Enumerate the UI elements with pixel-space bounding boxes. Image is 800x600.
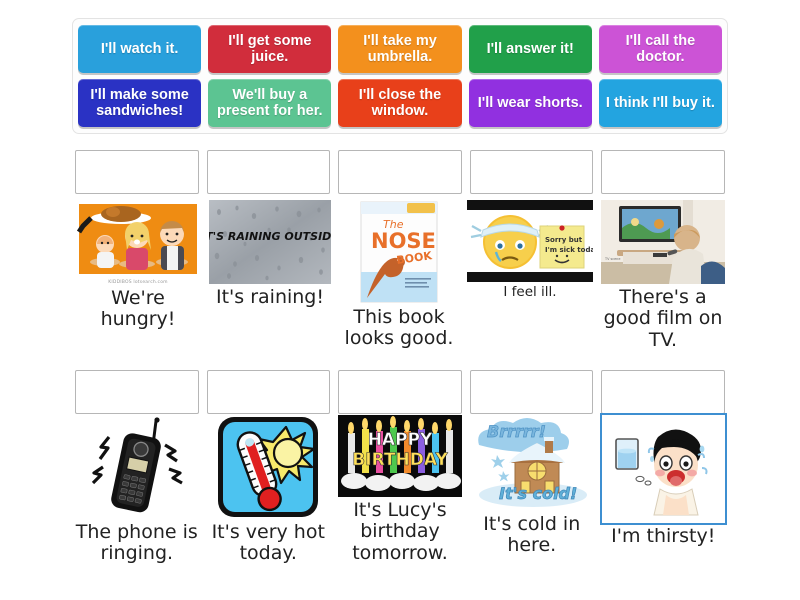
item-caption: The phone is ringing.	[75, 522, 199, 565]
item-raining[interactable]: IT'S RAINING OUTSIDE It's raining!	[209, 200, 331, 360]
svg-text:TV scene: TV scene	[604, 257, 620, 261]
matching-game-board: I'll watch it. I'll get some juice. I'll…	[0, 0, 800, 600]
drop-zone-row-2	[75, 370, 725, 414]
drop-zone-2[interactable]	[207, 150, 331, 194]
cold-overlay-line1: Brrrrr!	[487, 422, 546, 441]
tile-get-juice[interactable]: I'll get some juice.	[208, 25, 331, 73]
drop-zone-9[interactable]	[470, 370, 594, 414]
tile-close-window[interactable]: I'll close the window.	[338, 79, 461, 127]
drop-zone-7[interactable]	[207, 370, 331, 414]
sticky-note-line1: Sorry but	[545, 236, 583, 244]
item-good-film-tv[interactable]: TV scene There's a good film on TV.	[601, 200, 725, 360]
item-phone-ringing[interactable]: The phone is ringing.	[75, 415, 199, 580]
tile-think-buy-it[interactable]: I think I'll buy it.	[599, 79, 722, 127]
item-cold-in-here[interactable]: Brrrrr! It's cold! It's cold in here.	[470, 415, 594, 580]
item-birthday[interactable]: HAPPY BIRTHDAY It's Lucy's birthday tomo…	[338, 415, 462, 580]
child-watching-tv-image: TV scene	[601, 200, 725, 284]
item-feel-ill[interactable]: Sorry but I'm sick today I feel ill.	[467, 200, 593, 360]
thermometer-sun-image	[207, 415, 331, 519]
image-watermark: KIDDIBOS lotsearch.com	[108, 280, 168, 285]
tile-bank: I'll watch it. I'll get some juice. I'll…	[72, 18, 728, 134]
tile-watch-it[interactable]: I'll watch it.	[78, 25, 201, 73]
tile-row-2: I'll make some sandwiches! We'll buy a p…	[78, 79, 722, 127]
tile-buy-present[interactable]: We'll buy a present for her.	[208, 79, 331, 127]
tile-wear-shorts[interactable]: I'll wear shorts.	[469, 79, 592, 127]
drop-zone-5[interactable]	[601, 150, 725, 194]
drop-zone-8[interactable]	[338, 370, 462, 414]
item-thirsty[interactable]: I'm thirsty!	[602, 415, 726, 580]
sticky-note-line2: I'm sick today	[545, 246, 593, 254]
drop-zone-row-1	[75, 150, 725, 194]
item-caption: It's Lucy's birthday tomorrow.	[338, 500, 462, 564]
drop-zone-6[interactable]	[75, 370, 199, 414]
drop-zone-10[interactable]	[601, 370, 725, 414]
drop-zone-4[interactable]	[470, 150, 594, 194]
tile-call-doctor[interactable]: I'll call the doctor.	[599, 25, 722, 73]
item-hungry[interactable]: KIDDIBOS lotsearch.com We're hungry!	[75, 200, 201, 360]
item-nose-book[interactable]: The NOSE BOOK This book looks good.	[339, 200, 459, 360]
tile-answer-it[interactable]: I'll answer it!	[469, 25, 592, 73]
item-caption: We're hungry!	[75, 288, 201, 331]
drop-zone-3[interactable]	[338, 150, 462, 194]
tile-row-1: I'll watch it. I'll get some juice. I'll…	[78, 25, 722, 73]
hungry-family-turkey-image	[75, 200, 201, 278]
nose-book-cover-image: The NOSE BOOK	[339, 200, 459, 304]
item-caption: It's very hot today.	[207, 522, 331, 565]
item-caption: It's cold in here.	[470, 514, 594, 557]
item-row-1: KIDDIBOS lotsearch.com We're hungry!	[75, 200, 725, 360]
snowy-house-cold-image: Brrrrr! It's cold!	[470, 415, 594, 511]
item-caption: I feel ill.	[503, 285, 556, 300]
cold-overlay-line2: It's cold!	[499, 484, 577, 503]
tile-take-umbrella[interactable]: I'll take my umbrella.	[338, 25, 461, 73]
item-row-2: The phone is ringing.	[75, 415, 725, 580]
tile-make-sandwiches[interactable]: I'll make some sandwiches!	[78, 79, 201, 127]
drop-zone-1[interactable]	[75, 150, 199, 194]
birthday-candles-image: HAPPY BIRTHDAY	[338, 415, 462, 497]
sick-emoji-note-image: Sorry but I'm sick today	[467, 200, 593, 282]
birthday-overlay-line1: HAPPY	[368, 430, 433, 450]
rain-drops-window-image: IT'S RAINING OUTSIDE	[209, 200, 331, 284]
item-caption: This book looks good.	[339, 307, 459, 350]
birthday-overlay-line2: BIRTHDAY	[352, 450, 448, 470]
thirsty-boy-water-image	[602, 415, 726, 523]
ringing-mobile-phone-image	[75, 415, 199, 519]
item-caption: I'm thirsty!	[611, 526, 715, 547]
item-caption: It's raining!	[216, 287, 324, 308]
rain-overlay-line1: IT'S RAINING OUTSIDE	[209, 230, 331, 243]
item-very-hot[interactable]: It's very hot today.	[207, 415, 331, 580]
item-caption: There's a good film on TV.	[601, 287, 725, 351]
